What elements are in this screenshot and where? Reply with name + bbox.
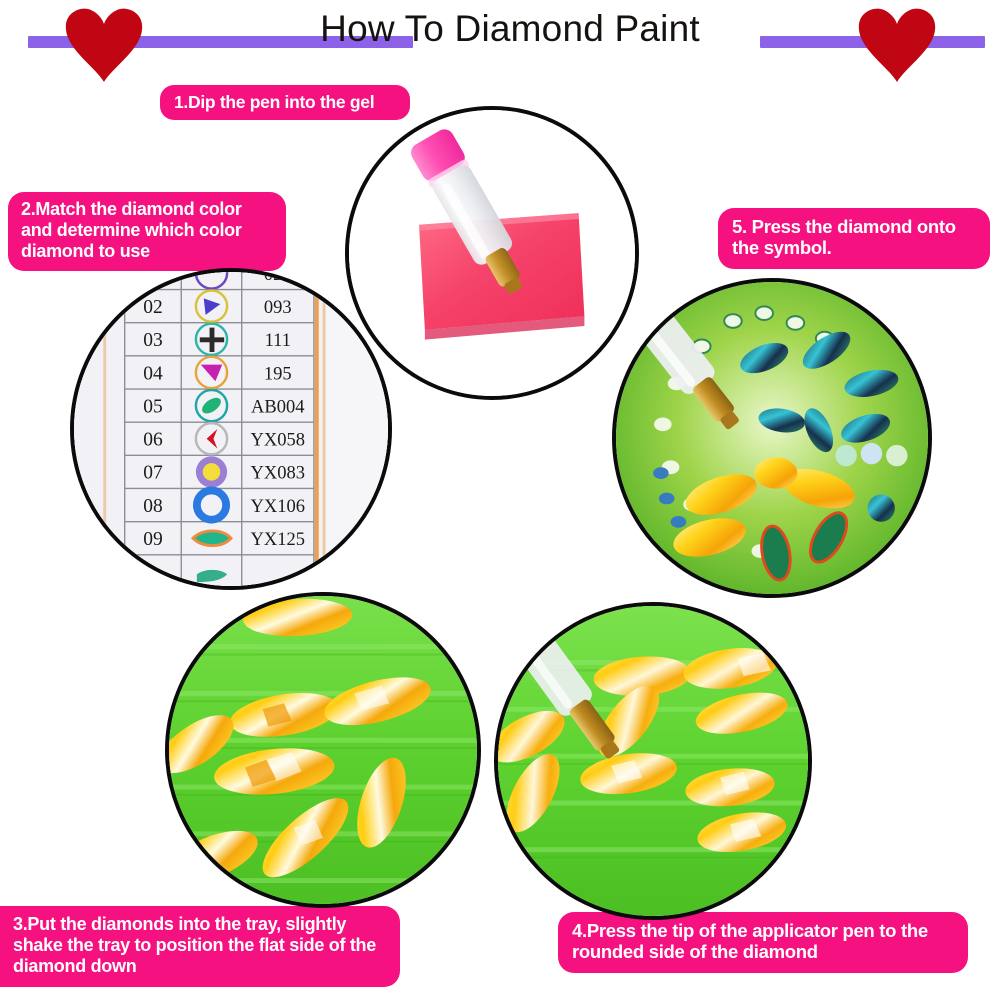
step-3-label: 3.Put the diamonds into the tray, slight… xyxy=(0,906,400,987)
infographic-root: How To Diamond Paint 1.Dip the pen into … xyxy=(0,0,1001,1001)
svg-text:YX083: YX083 xyxy=(251,463,306,484)
photo-diamonds-in-tray xyxy=(165,592,481,908)
step-4-label: 4.Press the tip of the applicator pen to… xyxy=(558,912,968,973)
svg-text:01: 01 xyxy=(143,272,163,285)
photo-color-chart: 01 02 03 04 05 06 07 08 09 028 093 111 1… xyxy=(70,268,392,590)
heart-icon xyxy=(855,6,939,84)
page-title: How To Diamond Paint xyxy=(290,8,730,50)
svg-text:07: 07 xyxy=(143,463,163,484)
svg-text:08: 08 xyxy=(143,496,163,517)
svg-text:AB004: AB004 xyxy=(251,396,304,417)
svg-text:111: 111 xyxy=(265,330,291,351)
photo-pen-in-gel xyxy=(345,106,639,400)
svg-text:YX058: YX058 xyxy=(251,430,306,451)
svg-text:03: 03 xyxy=(143,330,163,351)
svg-text:195: 195 xyxy=(264,363,292,384)
svg-text:028: 028 xyxy=(264,272,292,285)
svg-text:YX125: YX125 xyxy=(251,529,306,550)
svg-text:06: 06 xyxy=(143,430,163,451)
svg-text:02: 02 xyxy=(143,297,163,318)
step-1-label: 1.Dip the pen into the gel xyxy=(160,85,410,120)
step-5-label: 5. Press the diamond onto the symbol. xyxy=(718,208,990,269)
svg-text:YX106: YX106 xyxy=(251,496,306,517)
svg-text:04: 04 xyxy=(143,363,163,384)
step-2-label: 2.Match the diamond color and determine … xyxy=(8,192,286,271)
svg-text:093: 093 xyxy=(264,297,292,318)
photo-pen-picking-diamond xyxy=(494,602,812,920)
svg-text:05: 05 xyxy=(143,396,163,417)
svg-text:09: 09 xyxy=(143,529,163,550)
heart-icon xyxy=(62,6,146,84)
photo-placing-diamond-on-canvas xyxy=(612,278,932,598)
